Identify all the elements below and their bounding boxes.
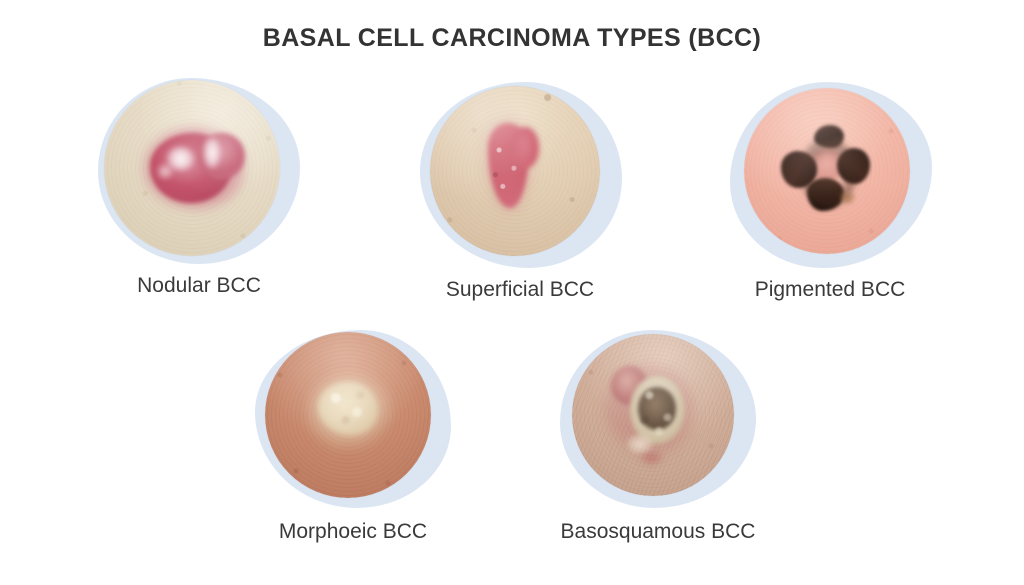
lesion-figure-basosquamous: Basosquamous BCC: [560, 330, 756, 508]
lesion-photo-superficial: [430, 86, 600, 256]
lesion-figure-superficial: Superficial BCC: [420, 82, 620, 268]
page-title: BASAL CELL CARCINOMA TYPES (BCC): [0, 24, 1024, 53]
lesion-caption-basosquamous: Basosquamous BCC: [560, 520, 756, 544]
lesion-blob-wrap-morphoeic: [255, 330, 451, 508]
lesion-figure-morphoeic: Morphoeic BCC: [255, 330, 451, 508]
photo-sheen-basosquamous: [572, 334, 734, 496]
lesion-caption-pigmented: Pigmented BCC: [730, 278, 930, 302]
photo-sheen-superficial: [430, 86, 600, 256]
lesion-blob-wrap-basosquamous: [560, 330, 756, 508]
photo-sheen-nodular: [104, 80, 280, 256]
photo-sheen-morphoeic: [265, 332, 431, 498]
lesion-blob-wrap-pigmented: [730, 82, 932, 268]
photo-sheen-pigmented: [744, 88, 910, 254]
lesion-caption-morphoeic: Morphoeic BCC: [255, 520, 451, 544]
lesion-photo-morphoeic: [265, 332, 431, 498]
lesion-caption-superficial: Superficial BCC: [420, 278, 620, 302]
lesion-caption-nodular: Nodular BCC: [98, 274, 300, 298]
lesion-photo-basosquamous: [572, 334, 734, 496]
lesion-blob-wrap-nodular: [98, 78, 300, 264]
lesion-photo-nodular: [104, 80, 280, 256]
lesion-figure-pigmented: Pigmented BCC: [730, 82, 930, 268]
lesion-figure-nodular: Nodular BCC: [98, 78, 300, 264]
lesion-blob-wrap-superficial: [420, 82, 622, 268]
lesion-photo-pigmented: [744, 88, 910, 254]
